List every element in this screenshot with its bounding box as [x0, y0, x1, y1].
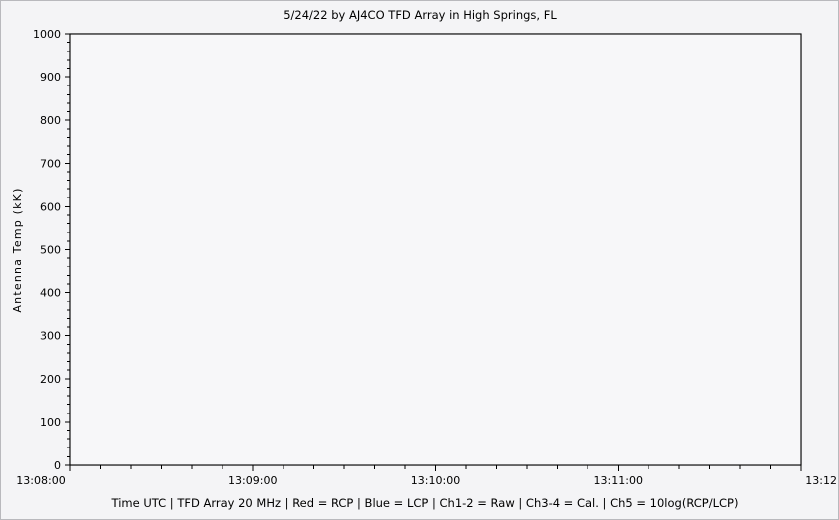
antenna-temp-chart: 5/24/22 by AJ4CO TFD Array in High Sprin… — [1, 1, 839, 520]
y-tick-label: 400 — [40, 287, 61, 300]
y-tick-label: 600 — [40, 200, 61, 213]
chart-caption: Time UTC | TFD Array 20 MHz | Red = RCP … — [111, 496, 739, 510]
y-tick-label: 500 — [40, 244, 61, 257]
x-tick-label: 13:08:00 — [16, 474, 65, 487]
y-tick-label: 800 — [40, 114, 61, 127]
chart-title: 5/24/22 by AJ4CO TFD Array in High Sprin… — [283, 8, 557, 22]
x-tick-label: 13:10:00 — [411, 474, 460, 487]
y-tick-label: 100 — [40, 416, 61, 429]
chart-window: 5/24/22 by AJ4CO TFD Array in High Sprin… — [0, 0, 839, 520]
y-tick-label: 0 — [54, 459, 61, 472]
x-tick-label: 13:11:00 — [594, 474, 643, 487]
plot-frame-outline — [70, 34, 801, 465]
y-tick-label: 700 — [40, 157, 61, 170]
x-tick-label: 13:12:00 — [805, 474, 839, 487]
y-axis-label: Antenna Temp (kK) — [11, 187, 24, 312]
y-tick-label: 1000 — [33, 28, 61, 41]
y-tick-label: 300 — [40, 330, 61, 343]
y-tick-label: 200 — [40, 373, 61, 386]
y-tick-label: 900 — [40, 71, 61, 84]
x-tick-label: 13:09:00 — [228, 474, 277, 487]
